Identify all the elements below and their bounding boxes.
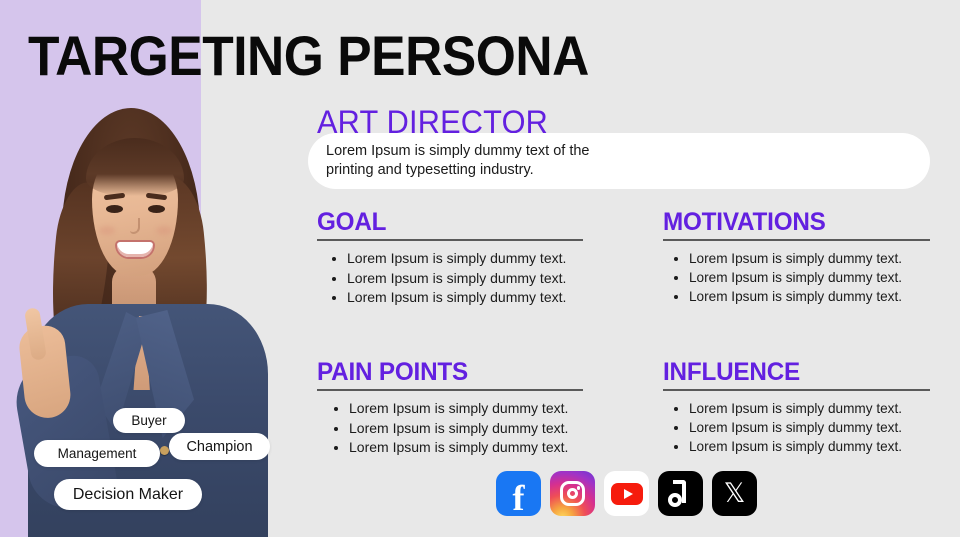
section-pain-points-list: Lorem Ipsum is simply dummy text. Lorem … — [317, 399, 583, 458]
social-icon-row: f 𝕏 — [496, 471, 757, 516]
persona-eye-left — [106, 205, 123, 213]
persona-smile — [117, 242, 153, 257]
section-influence-heading: INFLUENCE — [663, 358, 922, 386]
persona-eye-right — [148, 205, 165, 213]
tiktok-icon[interactable] — [658, 471, 703, 516]
facebook-icon[interactable]: f — [496, 471, 541, 516]
list-item: Lorem Ipsum is simply dummy text. — [349, 399, 583, 419]
persona-description-text: Lorem Ipsum is simply dummy text of the … — [308, 142, 608, 180]
x-glyph: 𝕏 — [724, 480, 746, 507]
tiktok-note — [668, 480, 694, 508]
tiktok-note-ball — [668, 493, 682, 507]
youtube-body — [611, 483, 643, 505]
list-item: Lorem Ipsum is simply dummy text. — [689, 399, 930, 418]
section-goal-heading: GOAL — [317, 208, 575, 236]
section-pain-points-divider — [317, 389, 583, 391]
tag-champion-label: Champion — [186, 439, 252, 455]
page-title: TARGETING PERSONA — [28, 25, 589, 87]
youtube-icon[interactable] — [604, 471, 649, 516]
tag-decision-maker-label: Decision Maker — [73, 486, 183, 504]
persona-blush-right — [156, 226, 172, 235]
tag-champion[interactable]: Champion — [169, 433, 270, 460]
section-pain-points: PAIN POINTS Lorem Ipsum is simply dummy … — [317, 358, 583, 458]
tag-management-label: Management — [58, 446, 137, 461]
tag-buyer-label: Buyer — [131, 413, 166, 428]
list-item: Lorem Ipsum is simply dummy text. — [689, 437, 930, 456]
persona-description-card: Lorem Ipsum is simply dummy text of the … — [308, 133, 930, 189]
list-item: Lorem Ipsum is simply dummy text. — [689, 268, 930, 287]
facebook-glyph: f — [513, 481, 525, 515]
list-item: Lorem Ipsum is simply dummy text. — [349, 438, 583, 458]
list-item: Lorem Ipsum is simply dummy text. — [347, 269, 583, 289]
tag-decision-maker[interactable]: Decision Maker — [54, 479, 202, 510]
section-influence: INFLUENCE Lorem Ipsum is simply dummy te… — [663, 358, 930, 456]
section-motivations: MOTIVATIONS Lorem Ipsum is simply dummy … — [663, 208, 930, 306]
list-item: Lorem Ipsum is simply dummy text. — [347, 288, 583, 308]
instagram-icon[interactable] — [550, 471, 595, 516]
section-motivations-divider — [663, 239, 930, 241]
persona-photo — [0, 90, 280, 537]
persona-blush-left — [99, 226, 115, 235]
section-influence-list: Lorem Ipsum is simply dummy text. Lorem … — [663, 399, 930, 456]
youtube-play-triangle — [624, 489, 633, 499]
list-item: Lorem Ipsum is simply dummy text. — [689, 287, 930, 306]
instagram-frame — [560, 481, 585, 506]
instagram-lens — [567, 488, 578, 499]
section-motivations-heading: MOTIVATIONS — [663, 208, 922, 236]
list-item: Lorem Ipsum is simply dummy text. — [347, 249, 583, 269]
persona-figure — [0, 90, 280, 537]
section-pain-points-heading: PAIN POINTS — [317, 358, 575, 386]
persona-button-2 — [160, 446, 169, 455]
list-item: Lorem Ipsum is simply dummy text. — [689, 249, 930, 268]
section-goal: GOAL Lorem Ipsum is simply dummy text. L… — [317, 208, 583, 308]
section-motivations-list: Lorem Ipsum is simply dummy text. Lorem … — [663, 249, 930, 306]
tag-management[interactable]: Management — [34, 440, 160, 467]
section-influence-divider — [663, 389, 930, 391]
list-item: Lorem Ipsum is simply dummy text. — [349, 419, 583, 439]
persona-slide: TARGETING PERSONA Buyer Management Champ… — [0, 0, 960, 537]
tag-buyer[interactable]: Buyer — [113, 408, 185, 433]
instagram-dot — [577, 486, 581, 490]
x-icon[interactable]: 𝕏 — [712, 471, 757, 516]
section-goal-list: Lorem Ipsum is simply dummy text. Lorem … — [317, 249, 583, 308]
section-goal-divider — [317, 239, 583, 241]
list-item: Lorem Ipsum is simply dummy text. — [689, 418, 930, 437]
